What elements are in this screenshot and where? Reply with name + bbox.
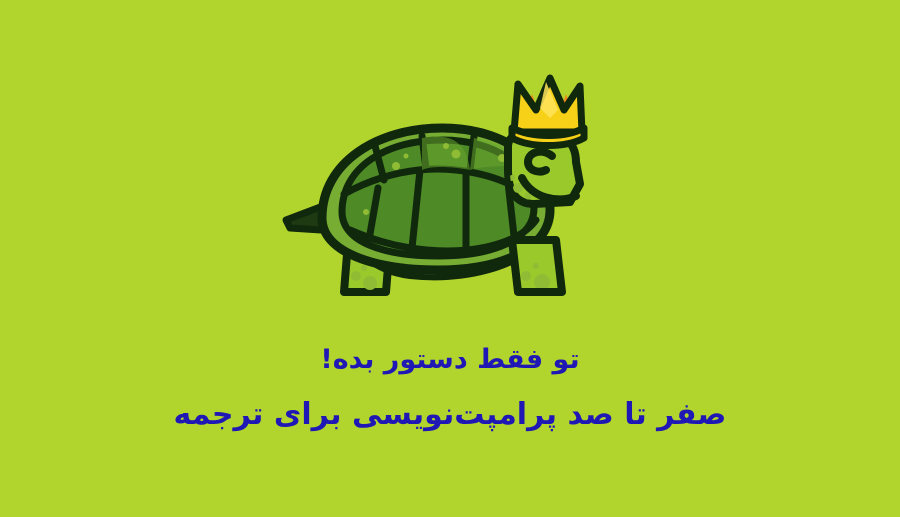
caption-line-1: تو فقط دستور بده! [0,340,900,379]
crown-icon [512,78,584,146]
caption-line-2: صفر تا صد پرامپت‌نویسی برای ترجمه [0,393,900,437]
turtle-illustration [270,70,630,300]
caption-block: تو فقط دستور بده! صفر تا صد پرامپت‌نویسی… [0,340,900,437]
banner-root: تو فقط دستور بده! صفر تا صد پرامپت‌نویسی… [0,0,900,517]
turtle-front-leg-icon [512,240,562,292]
